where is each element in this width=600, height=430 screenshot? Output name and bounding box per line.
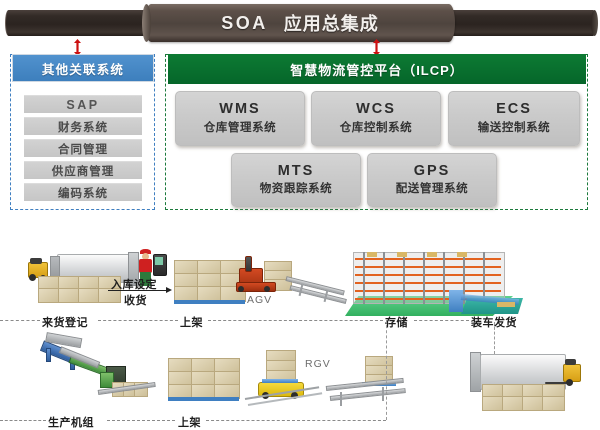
pipe-segment-left — [6, 10, 152, 36]
module-code: GPS — [414, 162, 451, 182]
production-leg — [46, 348, 51, 362]
pallet-load — [482, 384, 564, 410]
agv-wheel — [238, 286, 244, 292]
pallet-load — [38, 276, 120, 302]
conveyor-leg — [340, 392, 342, 406]
receiving-label: 来货登记 — [42, 314, 88, 330]
list-item[interactable]: 合同管理 — [24, 139, 142, 157]
module-name: 配送管理系统 — [396, 181, 469, 198]
pipe-end-cap-right — [591, 10, 598, 36]
conveyor-leg — [382, 387, 384, 401]
related-systems-header: 其他关联系统 — [12, 54, 154, 82]
list-item[interactable]: SAP — [24, 95, 142, 113]
list-item[interactable]: 供应商管理 — [24, 161, 142, 179]
ilcp-platform-header: 智慧物流管控平台（ILCP） — [168, 54, 586, 84]
module-name: 仓库控制系统 — [340, 120, 413, 137]
list-item-label: 编码系统 — [58, 185, 108, 201]
forklift-cab — [565, 359, 576, 365]
forklift-wheel — [29, 274, 36, 281]
module-card-wcs[interactable]: WCS 仓库控制系统 — [311, 91, 441, 146]
module-code: MTS — [278, 162, 315, 182]
rgv-label: RGV — [305, 358, 331, 370]
automated-storage-warehouse — [345, 246, 540, 318]
module-name: 仓库管理系统 — [204, 120, 277, 137]
storage-label: 存储 — [385, 314, 408, 330]
related-systems-header-label: 其他关联系统 — [42, 59, 124, 78]
soa-label-cn: 应用总集成 — [284, 10, 379, 36]
flow-line-row1 — [208, 320, 383, 321]
flow-connector-vertical-storage — [386, 320, 387, 420]
flow-line-row1 — [98, 320, 178, 321]
agv-label: AGV — [247, 294, 272, 306]
module-card-mts[interactable]: MTS 物资跟踪系统 — [231, 153, 361, 207]
soa-integration-bar: SOA 应用总集成 — [0, 2, 600, 42]
module-name: 物资跟踪系统 — [260, 181, 333, 198]
agv-wheel — [264, 286, 270, 292]
worker-torso — [139, 259, 152, 273]
list-item-label: SAP — [66, 98, 99, 112]
pipe-segment-right — [450, 10, 596, 36]
module-card-gps[interactable]: GPS 配送管理系统 — [367, 153, 497, 207]
soa-label-en: SOA — [221, 13, 268, 34]
flow-line-row2 — [206, 420, 386, 421]
putaway-pallet-stack-row2 — [168, 358, 240, 402]
list-item-label: 财务系统 — [58, 119, 108, 135]
rack-structure — [353, 250, 513, 302]
ilcp-platform-header-label: 智慧物流管控平台（ILCP） — [290, 60, 464, 79]
putaway-top-label: 上架 — [180, 314, 203, 330]
module-code: ECS — [496, 100, 532, 120]
flow-connector-vertical-loading — [494, 322, 495, 354]
receive-goods-label: 收货 — [124, 292, 147, 308]
module-card-wms[interactable]: WMS 仓库管理系统 — [175, 91, 305, 146]
related-systems-list: SAP 财务系统 合同管理 供应商管理 编码系统 — [24, 95, 142, 205]
flow-arrow-line — [108, 290, 168, 291]
module-name: 输送控制系统 — [478, 120, 551, 137]
diagram-root: SOA 应用总集成 其他关联系统 SAP 财务系统 合同管理 供应商管理 编码系… — [0, 0, 600, 428]
scanner-screen — [155, 257, 163, 265]
list-item-label: 合同管理 — [58, 141, 108, 157]
flow-arrow-head — [166, 287, 172, 293]
module-code: WCS — [356, 100, 396, 120]
list-item[interactable]: 财务系统 — [24, 117, 142, 135]
flow-line-row1 — [0, 320, 40, 321]
logistics-flow-illustration: 入库设定 收货 — [0, 232, 600, 428]
flow-line-row2 — [0, 420, 46, 421]
flow-line-row2 — [107, 420, 175, 421]
module-code: WMS — [219, 100, 260, 120]
module-card-ecs[interactable]: ECS 输送控制系统 — [448, 91, 580, 146]
soa-bar-title: SOA 应用总集成 — [145, 4, 455, 42]
pallet-on-conveyor — [497, 302, 515, 307]
list-item[interactable]: 编码系统 — [24, 183, 142, 201]
agv-mast — [245, 256, 252, 272]
flow-line-row1 — [414, 320, 469, 321]
forklift-cab — [30, 258, 42, 264]
rgv-deck — [262, 379, 298, 383]
list-item-label: 供应商管理 — [52, 163, 115, 179]
forklift-wheel — [566, 379, 573, 386]
